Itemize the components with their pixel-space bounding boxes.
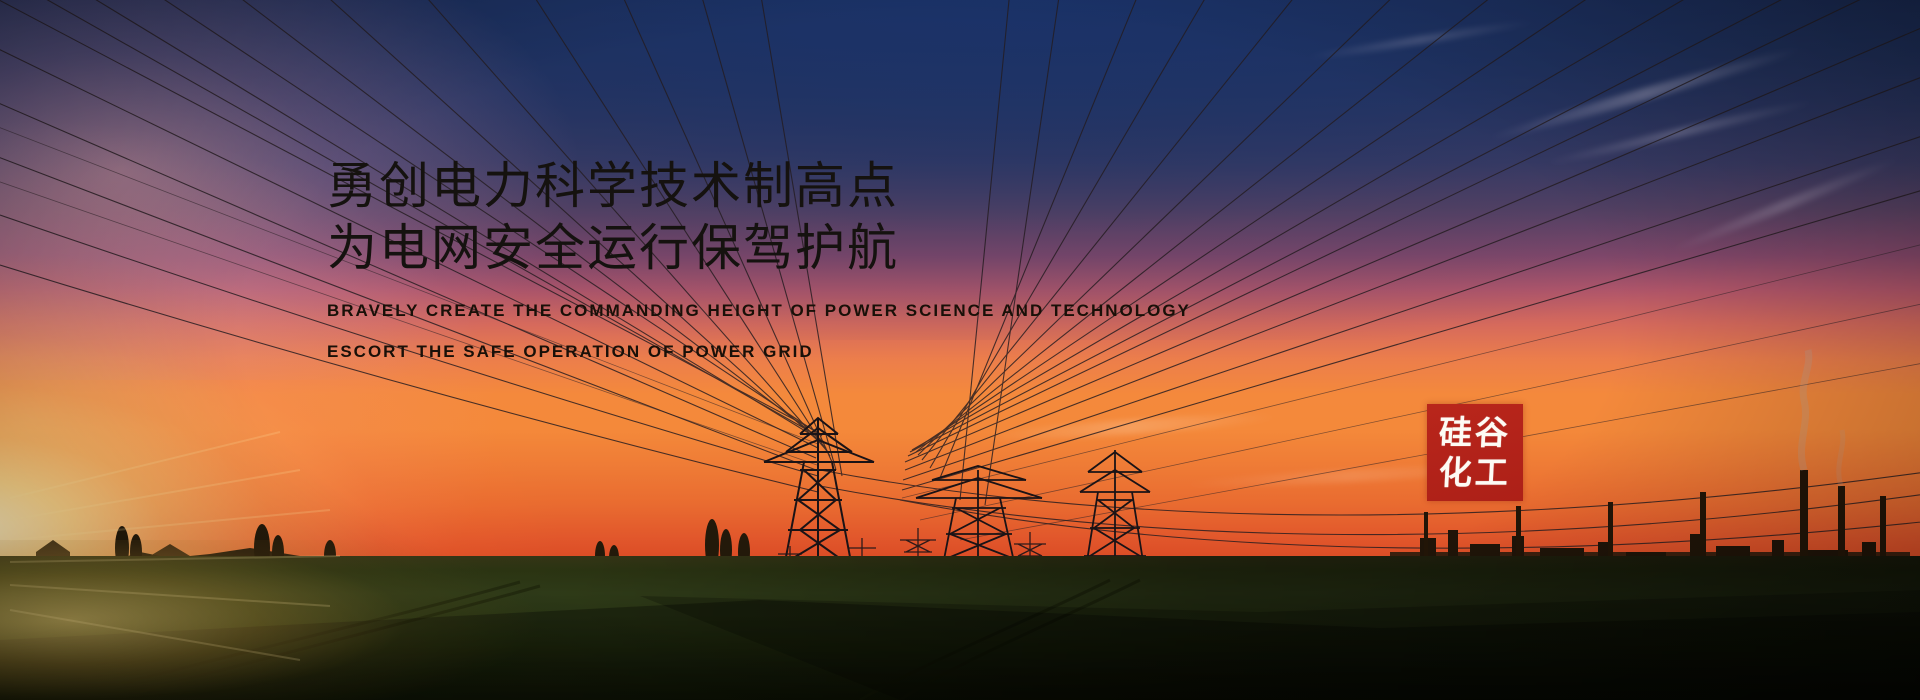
headline-line-2: 为电网安全运行保驾护航 xyxy=(327,217,1227,279)
seal-inner: 硅谷 化工 xyxy=(1427,404,1523,501)
seal-text-line-1: 硅谷 xyxy=(1438,414,1512,452)
subtitle-line-1: BRAVELY CREATE THE COMMANDING HEIGHT OF … xyxy=(327,301,1227,321)
headline-line-1: 勇创电力科学技术制高点 xyxy=(327,155,1227,217)
subtitle-line-2: ESCORT THE SAFE OPERATION OF POWER GRID xyxy=(327,342,1227,362)
seal-text-line-2: 化工 xyxy=(1438,454,1512,492)
banner-copy: 勇创电力科学技术制高点 为电网安全运行保驾护航 BRAVELY CREATE T… xyxy=(327,155,1227,362)
company-seal-logo[interactable]: 硅谷 化工 xyxy=(1427,404,1523,501)
hero-banner: 勇创电力科学技术制高点 为电网安全运行保驾护航 BRAVELY CREATE T… xyxy=(0,0,1920,700)
